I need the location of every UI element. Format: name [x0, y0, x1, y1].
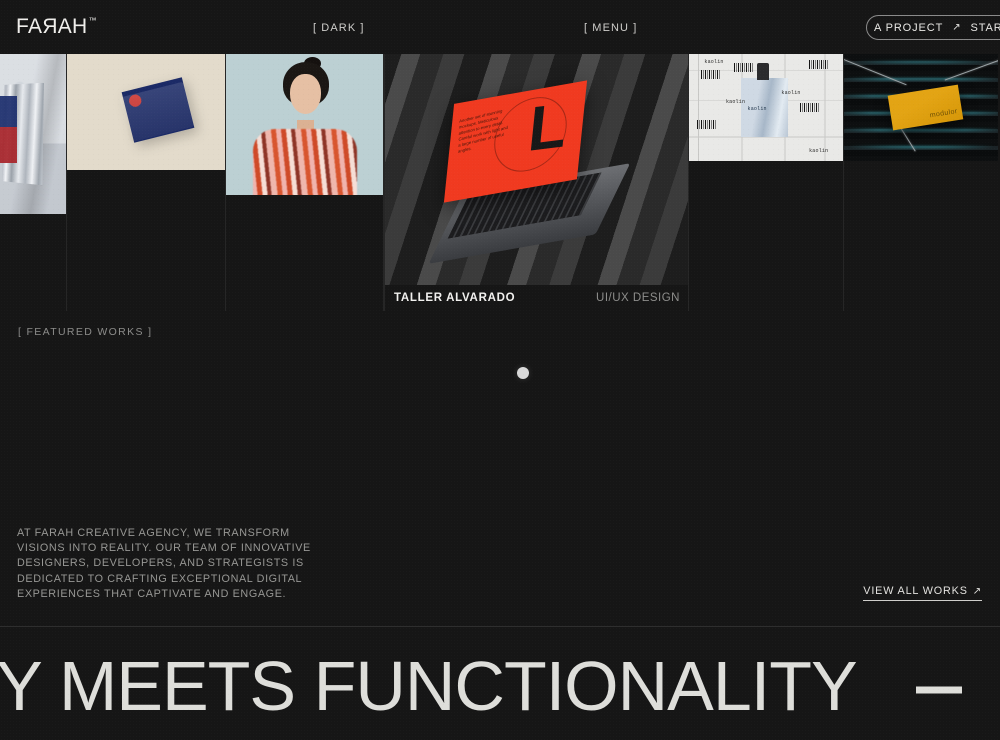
- view-all-works-label: VIEW ALL WORKS: [863, 585, 968, 597]
- gallery-card-kaolin[interactable]: kaolin kaolin kaolin kaolin kaolin: [689, 54, 844, 311]
- card-title: TALLER ALVARADO: [394, 292, 515, 304]
- cta-marquee-track: A PROJECT ↗ START A P: [867, 22, 1000, 34]
- model-face: [290, 74, 321, 114]
- featured-works-gallery: Another set of stunning mockups. Meticul…: [0, 54, 1000, 311]
- kaolin-label: kaolin: [704, 59, 723, 65]
- arrow-up-right-icon: ↗: [952, 22, 961, 33]
- logo[interactable]: FARAH™: [16, 16, 97, 37]
- barcode-icon: [701, 70, 721, 79]
- cta-label-2: START A P: [971, 22, 1000, 34]
- logo-part-2: AH: [58, 16, 88, 37]
- kaolin-bottle-label: kaolin: [748, 106, 767, 112]
- gallery-card-taller-alvarado[interactable]: Another set of stunning mockups. Meticul…: [384, 54, 689, 311]
- theme-toggle-button[interactable]: [ DARK ]: [313, 22, 365, 34]
- gallery-card-pouch[interactable]: [0, 54, 67, 311]
- site-header: FARAH™ [ DARK ] [ MENU ] A PROJECT ↗ STA…: [0, 0, 1000, 53]
- tag-wire: [944, 58, 998, 80]
- tag-brand-label: modulor: [929, 108, 958, 119]
- kaolin-label: kaolin: [809, 148, 828, 154]
- section-divider: [0, 626, 1000, 627]
- marquee-headline-band: TIVITY MEETS FUNCTIONALITY: [0, 640, 1000, 740]
- fashion-model-image: [226, 54, 383, 195]
- pouch-packaging-image: [0, 54, 66, 214]
- modulor-yellow-tag: modulor: [888, 85, 963, 131]
- kaolin-packaging-image: kaolin kaolin kaolin kaolin kaolin: [689, 54, 843, 161]
- barcode-icon: [800, 103, 820, 112]
- barcode-icon: [734, 63, 754, 72]
- featured-works-label: [ FEATURED WORKS ]: [18, 326, 152, 338]
- model-garment: [253, 129, 357, 195]
- sticker-sheet-image: [67, 54, 225, 170]
- logo-part-1: FA: [16, 16, 42, 37]
- tag-wire: [844, 58, 906, 85]
- arrow-up-right-icon: ↗: [973, 586, 982, 597]
- menu-button[interactable]: [ MENU ]: [584, 22, 637, 34]
- laptop-mockup-image: Another set of stunning mockups. Meticul…: [385, 54, 688, 285]
- barcode-icon: [697, 120, 717, 129]
- kaolin-pump: [757, 63, 769, 80]
- logo-reversed-r: R: [42, 16, 57, 37]
- kaolin-label: kaolin: [781, 90, 800, 96]
- marquee-headline-text: TIVITY MEETS FUNCTIONALITY: [0, 640, 857, 736]
- gallery-card-modulor[interactable]: modulor: [844, 54, 998, 311]
- featured-card-caption: TALLER ALVARADO UI/UX DESIGN: [385, 285, 688, 311]
- custom-cursor-dot: [517, 367, 529, 379]
- cta-label-1: A PROJECT: [874, 22, 943, 34]
- logo-trademark: ™: [89, 17, 97, 25]
- gallery-card-stickers[interactable]: [67, 54, 226, 311]
- kaolin-label: kaolin: [726, 99, 745, 105]
- screen-letter-l: L: [526, 100, 569, 155]
- gallery-card-model[interactable]: [226, 54, 384, 311]
- barcode-icon: [809, 60, 829, 69]
- agency-intro-text: AT FARAH CREATIVE AGENCY, WE TRANSFORM V…: [17, 526, 317, 602]
- modulor-tag-image: modulor: [844, 54, 998, 161]
- card-category: UI/UX DESIGN: [596, 292, 680, 304]
- start-a-project-button[interactable]: A PROJECT ↗ START A P: [866, 15, 1000, 40]
- view-all-works-link[interactable]: VIEW ALL WORKS ↗: [863, 585, 982, 601]
- dash-icon: [916, 687, 962, 694]
